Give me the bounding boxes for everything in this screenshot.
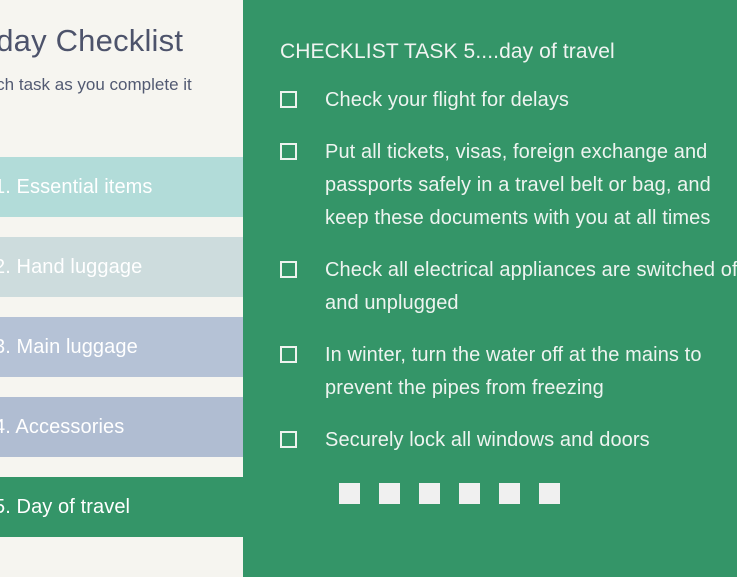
sidebar-item-day-of-travel[interactable]: 5. Day of travel	[0, 477, 243, 537]
empty-checkbox-icon[interactable]	[280, 346, 297, 363]
empty-checkbox-icon[interactable]	[280, 261, 297, 278]
progress-square[interactable]	[339, 483, 360, 504]
task-label: Check your flight for delays	[325, 84, 569, 117]
sidebar-item-accessories[interactable]: 4. Accessories	[0, 397, 243, 457]
task-label: Check all electrical appliances are swit…	[325, 254, 737, 320]
sidebar: Holiday Checklist Tick each task as you …	[0, 0, 243, 570]
sidebar-item-main-luggage[interactable]: 3. Main luggage	[0, 317, 243, 377]
progress-square[interactable]	[539, 483, 560, 504]
task-list: Check your flight for delays Put all tic…	[280, 84, 737, 476]
sidebar-item-hand-luggage[interactable]: 2. Hand luggage	[0, 237, 243, 297]
content-heading: CHECKLIST TASK 5....day of travel	[280, 40, 615, 64]
task-item[interactable]: Securely lock all windows and doors	[280, 424, 737, 457]
app-screen: Holiday Checklist Tick each task as you …	[0, 0, 737, 577]
task-label: Securely lock all windows and doors	[325, 424, 650, 457]
task-item[interactable]: Check all electrical appliances are swit…	[280, 254, 737, 320]
task-item[interactable]: Check your flight for delays	[280, 84, 737, 117]
page-subtitle: Tick each task as you complete it	[0, 74, 242, 96]
progress-square[interactable]	[379, 483, 400, 504]
sidebar-header: Holiday Checklist Tick each task as you …	[0, 22, 242, 96]
progress-square[interactable]	[499, 483, 520, 504]
sidebar-item-label: 1. Essential items	[0, 176, 153, 199]
sidebar-item-label: 3. Main luggage	[0, 336, 138, 359]
sidebar-item-label: 5. Day of travel	[0, 496, 130, 519]
empty-checkbox-icon[interactable]	[280, 91, 297, 108]
task-item[interactable]: In winter, turn the water off at the mai…	[280, 339, 737, 405]
progress-square-strip	[339, 483, 560, 504]
sidebar-item-label: 2. Hand luggage	[0, 256, 142, 279]
page-title: Holiday Checklist	[0, 22, 242, 60]
task-label: In winter, turn the water off at the mai…	[325, 339, 702, 405]
empty-checkbox-icon[interactable]	[280, 143, 297, 160]
content-panel: CHECKLIST TASK 5....day of travel Check …	[243, 0, 737, 577]
progress-square[interactable]	[459, 483, 480, 504]
task-label: Put all tickets, visas, foreign exchange…	[325, 136, 711, 235]
sidebar-item-essential-items[interactable]: 1. Essential items	[0, 157, 243, 217]
task-item[interactable]: Put all tickets, visas, foreign exchange…	[280, 136, 737, 235]
progress-square[interactable]	[419, 483, 440, 504]
sidebar-item-label: 4. Accessories	[0, 416, 124, 439]
empty-checkbox-icon[interactable]	[280, 431, 297, 448]
